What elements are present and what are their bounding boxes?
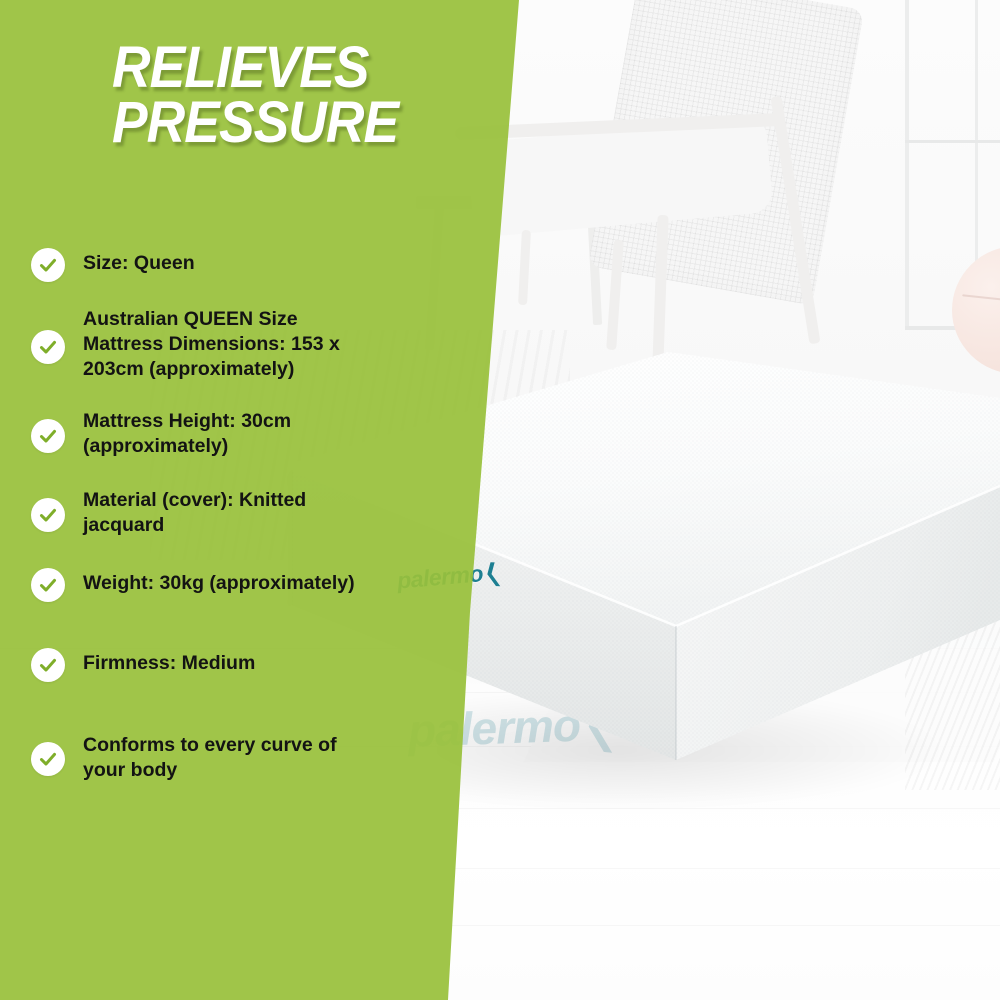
list-item-label: Material (cover): Knitted jacquard <box>83 485 306 538</box>
check-circle-icon <box>31 648 65 682</box>
list-item: Size: Queen <box>31 248 451 282</box>
check-circle-icon <box>31 330 65 364</box>
list-item-label: Mattress Height: 30cm (approximately) <box>83 406 291 459</box>
list-item-label: Firmness: Medium <box>83 648 255 676</box>
check-circle-icon <box>31 498 65 532</box>
list-item: Weight: 30kg (approximately) <box>31 568 451 602</box>
check-circle-icon <box>31 419 65 453</box>
list-item-label: Australian QUEEN Size Mattress Dimension… <box>83 304 340 382</box>
check-circle-icon <box>31 742 65 776</box>
list-item: Australian QUEEN Size Mattress Dimension… <box>31 304 451 382</box>
list-item: Conforms to every curve of your body <box>31 730 451 783</box>
page-title: RELIEVES PRESSURE <box>112 40 498 150</box>
list-item: Material (cover): Knitted jacquard <box>31 485 451 538</box>
list-item: Firmness: Medium <box>31 648 451 682</box>
list-item-label: Conforms to every curve of your body <box>83 730 337 783</box>
list-item-label: Size: Queen <box>83 248 195 276</box>
product-feature-card: palermo❭ <box>0 0 1000 1000</box>
check-circle-icon <box>31 568 65 602</box>
feature-list: Size: Queen Australian QUEEN Size Mattre… <box>31 248 451 783</box>
list-item-label: Weight: 30kg (approximately) <box>83 568 355 596</box>
list-item: Mattress Height: 30cm (approximately) <box>31 406 451 459</box>
check-circle-icon <box>31 248 65 282</box>
